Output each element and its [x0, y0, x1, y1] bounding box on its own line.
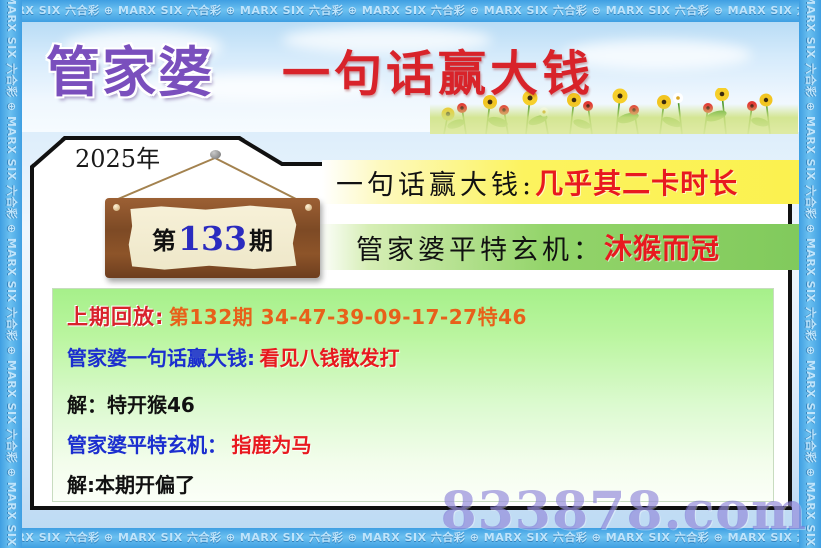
- tip-bar-yellow: 一句话赢大钱: 几乎其二卡时长: [322, 160, 802, 204]
- issue-prefix: 第: [152, 221, 176, 256]
- border-right: MARX SIX 六合彩 ⊕ MARX SIX 六合彩 ⊕ MARX SIX 六…: [799, 0, 821, 548]
- issue-number-group: 第 133 期: [127, 205, 298, 271]
- replay-label: 上期回放:: [67, 305, 164, 329]
- content-box: 上期回放: 第132期 34-47-39-09-17-27特46 管家婆一句话赢…: [52, 288, 774, 502]
- prev-xuanji-explain: 解:本期开偏了: [67, 469, 195, 498]
- prev-tip-label: 管家婆一句话赢大钱:: [67, 346, 255, 370]
- replay-value: 第132期 34-47-39-09-17-27特46: [169, 305, 527, 329]
- issue-suffix: 期: [249, 221, 273, 256]
- prev-xuanji-label: 管家婆平特玄机：: [67, 433, 227, 457]
- poster-canvas: 管家婆 一句话赢大钱: [0, 0, 821, 548]
- tip-yellow-value: 几乎其二卡时长: [535, 162, 738, 202]
- brand-title: 管家婆: [46, 28, 214, 107]
- border-pattern-text: MARX SIX 六合彩 ⊕ MARX SIX 六合彩 ⊕ MARX SIX 六…: [0, 0, 821, 22]
- nail-icon: [210, 150, 221, 159]
- tip-green-value: 沐猴而冠: [604, 227, 720, 267]
- grass-shape: [430, 104, 798, 134]
- border-left: MARX SIX 六合彩 ⊕ MARX SIX 六合彩 ⊕ MARX SIX 六…: [0, 0, 22, 548]
- replay-row: 上期回放: 第132期 34-47-39-09-17-27特46: [67, 301, 527, 331]
- tip-bar-green: 管家婆平特玄机： 沐猴而冠: [318, 224, 821, 270]
- issue-board: 第 133 期: [105, 198, 320, 278]
- prev-tip-row: 管家婆一句话赢大钱: 看见八钱散发打: [67, 342, 399, 371]
- issue-paper: 第 133 期: [127, 205, 298, 271]
- prev-tip-explain: 解：特开猴46: [67, 389, 195, 418]
- site-watermark: 833878.com: [440, 481, 807, 542]
- prev-xuanji-value: 指鹿为马: [231, 433, 311, 457]
- border-pattern-text: MARX SIX 六合彩 ⊕ MARX SIX 六合彩 ⊕ MARX SIX 六…: [799, 0, 821, 548]
- tip-green-label: 管家婆平特玄机：: [356, 228, 604, 267]
- prev-tip-value: 看见八钱散发打: [259, 346, 399, 370]
- brand-subtitle: 一句话赢大钱: [282, 34, 594, 104]
- issue-number: 133: [176, 219, 249, 258]
- prev-xuanji-row: 管家婆平特玄机： 指鹿为马: [67, 429, 311, 458]
- tip-yellow-label: 一句话赢大钱:: [336, 163, 535, 202]
- border-pattern-text: MARX SIX 六合彩 ⊕ MARX SIX 六合彩 ⊕ MARX SIX 六…: [0, 0, 22, 548]
- border-top: MARX SIX 六合彩 ⊕ MARX SIX 六合彩 ⊕ MARX SIX 六…: [0, 0, 821, 22]
